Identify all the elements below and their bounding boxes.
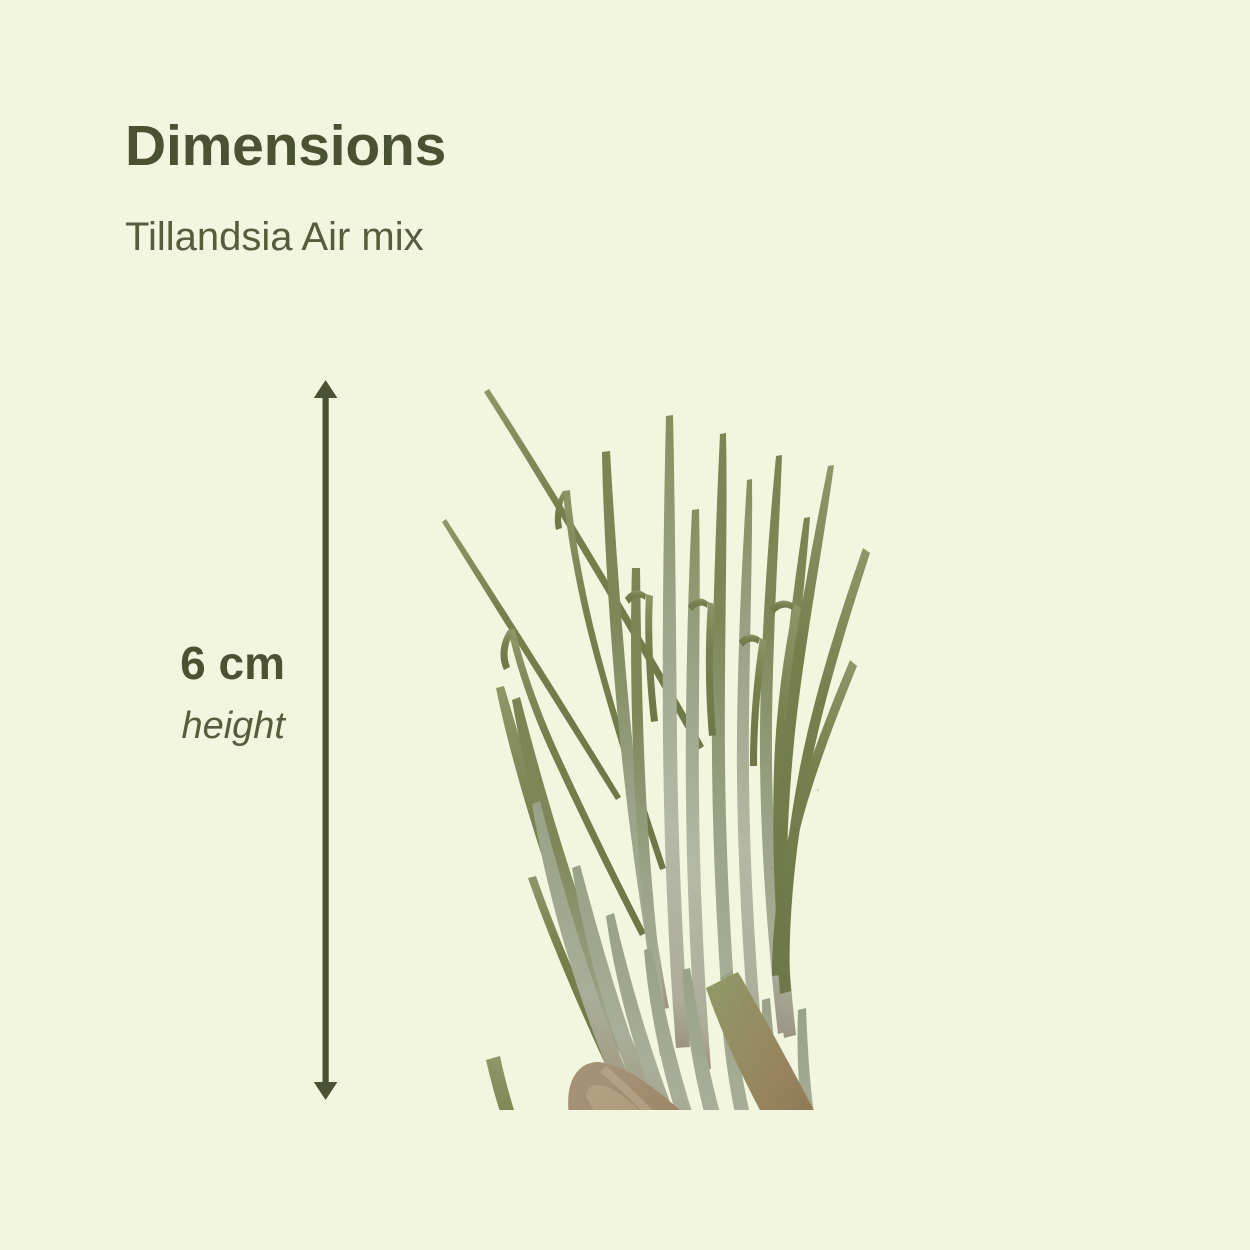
product-image-tillandsia bbox=[420, 370, 890, 1110]
arrow-down-icon bbox=[314, 1082, 338, 1100]
dimension-arrow bbox=[300, 375, 352, 1105]
measurement-label: 6 cm height bbox=[40, 640, 285, 745]
page-subtitle: Tillandsia Air mix bbox=[125, 175, 825, 257]
dimensions-card: Dimensions Tillandsia Air mix 6 cm heigh… bbox=[0, 0, 1250, 1250]
measurement-caption: height bbox=[40, 686, 285, 745]
arrow-up-icon bbox=[314, 380, 338, 398]
plant-leaves bbox=[442, 389, 870, 1110]
measurement-value: 6 cm bbox=[40, 640, 285, 686]
arrow-shaft bbox=[323, 389, 329, 1091]
page-title: Dimensions bbox=[125, 118, 825, 175]
header: Dimensions Tillandsia Air mix bbox=[125, 118, 825, 257]
